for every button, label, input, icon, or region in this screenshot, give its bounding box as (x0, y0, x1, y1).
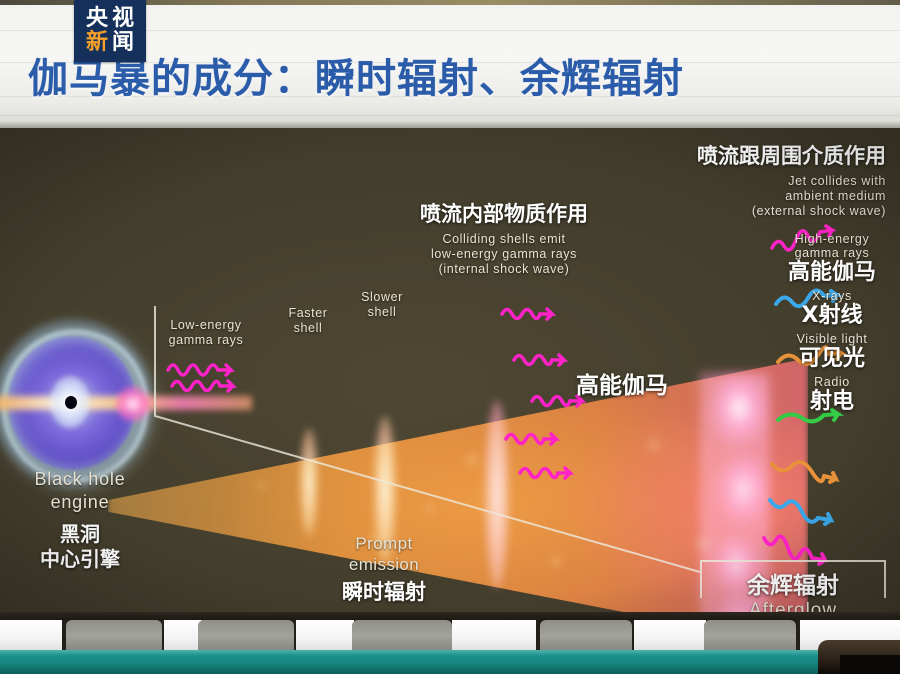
black-hole-engine-label: Black hole engine 黑洞 中心引擎 (10, 468, 150, 572)
foreground-object-shadow (840, 655, 900, 674)
page-title: 伽马暴的成分：瞬时辐射、余辉辐射 (28, 46, 878, 104)
external-shock-en: Jet collides with ambient medium (extern… (614, 174, 886, 219)
seat-block (452, 620, 536, 652)
cctv-news-logo: 央 视 新 闻 (74, 0, 146, 62)
logo-char-xin: 新 (84, 32, 110, 54)
low-energy-gamma-arrow-icon (166, 358, 236, 378)
legend-item-radio: Radio 射电 (770, 375, 894, 415)
faster-shell-arc (300, 428, 318, 536)
x-ray-squiggle-icon (768, 496, 838, 524)
jet-base-knot (116, 386, 150, 422)
slide-header: 伽马暴的成分：瞬时辐射、余辉辐射 央 视 新 闻 (0, 0, 900, 128)
low-energy-gamma-arrow-icon (170, 376, 240, 396)
high-energy-gamma-arrow-icon (500, 303, 560, 323)
seat-block (296, 620, 354, 652)
presentation-photo: 伽马暴的成分：瞬时辐射、余辉辐射 央 视 新 闻 (0, 0, 900, 674)
afterglow-cn: 余辉辐射 (700, 566, 886, 600)
internal-shock-en: Colliding shells emit low-energy gamma r… (388, 232, 620, 277)
external-shock-cn: 喷流跟周围介质作用 (614, 140, 886, 170)
black-hole-core (65, 396, 77, 409)
seat-block (66, 620, 162, 652)
logo-char-yang: 央 (84, 8, 110, 30)
seat-block (634, 620, 706, 652)
logo-char-wen: 闻 (110, 32, 136, 54)
low-energy-gamma-label: Low-energy gamma rays (146, 318, 266, 348)
seat-block (352, 620, 452, 652)
paper-texture-line (0, 115, 900, 116)
high-energy-gamma-label: 高能伽马 (576, 366, 668, 400)
seat-block (704, 620, 796, 652)
seat-block (164, 620, 202, 652)
logo-char-shi: 视 (110, 8, 136, 30)
legend-item-visible: Visible light 可见光 (770, 332, 894, 372)
legend-item-gamma: High-energy gamma rays 高能伽马 (770, 232, 894, 286)
black-hole-graphic (0, 318, 152, 488)
legend-item-xray: X-rays X射线 (770, 289, 894, 329)
high-energy-gamma-arrow-icon (504, 428, 564, 448)
faster-shell-label: Faster shell (276, 306, 340, 336)
seat-block (0, 620, 62, 652)
visible-light-squiggle-icon (770, 458, 840, 484)
seat-block (198, 620, 294, 652)
internal-shock-annotation: 喷流内部物质作用 Colliding shells emit low-energ… (388, 198, 620, 277)
gamma-ray-burst-diagram: 喷流跟周围介质作用 Jet collides with ambient medi… (0, 128, 900, 620)
audience-seat-row (0, 620, 900, 652)
high-energy-gamma-arrow-icon (512, 349, 572, 369)
desk-highlight (0, 650, 900, 656)
external-shock-annotation: 喷流跟周围介质作用 Jet collides with ambient medi… (614, 140, 886, 219)
seat-block (540, 620, 632, 652)
slower-shell-label: Slower shell (350, 290, 414, 320)
prompt-emission-label: Prompt emission 瞬时辐射 (320, 533, 448, 605)
radiation-legend: High-energy gamma rays 高能伽马 X-rays X射线 V… (770, 232, 894, 418)
high-energy-gamma-arrow-icon (518, 462, 578, 482)
high-energy-gamma-ray-squiggle-icon (762, 534, 832, 562)
header-shadow (0, 121, 900, 128)
internal-shock-cn: 喷流内部物质作用 (388, 198, 620, 228)
